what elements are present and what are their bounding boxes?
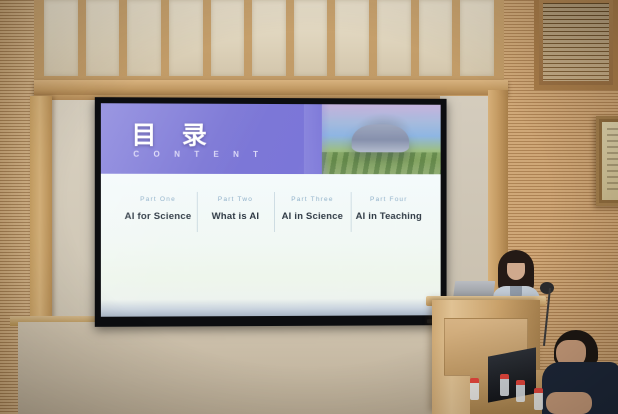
calligraphy-strokes — [607, 128, 618, 194]
transom-panel — [211, 0, 245, 76]
part-title: What is AI — [199, 211, 272, 222]
attendee-arm — [546, 392, 592, 414]
transom-panel — [294, 0, 328, 76]
slide-title-en: C O N T E N T — [133, 150, 264, 159]
slide-header-banner: 目 录 C O N T E N T — [101, 103, 441, 174]
lower-front-wall — [18, 322, 488, 414]
wall-artwork-frame — [596, 116, 618, 206]
content-item-2: Part Two What is AI — [197, 196, 274, 222]
contents-list: Part One AI for Science Part Two What is… — [119, 196, 427, 222]
part-title: AI in Teaching — [353, 211, 425, 222]
transom-panel — [377, 0, 411, 76]
transom-panel — [419, 0, 453, 76]
right-wall-panel — [440, 96, 490, 296]
microphone-icon — [540, 282, 554, 294]
content-item-3: Part Three AI in Science — [274, 196, 351, 222]
window-blind — [543, 3, 609, 81]
wall-artwork-canvas — [602, 122, 618, 200]
water-bottle — [534, 388, 543, 410]
part-label: Part One — [121, 196, 195, 203]
upper-right-window — [534, 0, 618, 90]
foliage-band — [322, 152, 441, 174]
transom-panel — [127, 0, 161, 76]
projected-slide: 目 录 C O N T E N T Part One AI for Scienc… — [101, 103, 441, 317]
banner-photo-fade — [304, 104, 330, 174]
transom-panel — [44, 0, 78, 76]
part-label: Part Two — [199, 196, 272, 203]
slide-title-cn: 目 录 — [131, 115, 216, 151]
transom-lattice — [34, 0, 504, 88]
content-item-1: Part One AI for Science — [119, 196, 197, 222]
transom-panel-group — [40, 0, 498, 76]
part-label: Part Three — [276, 196, 349, 203]
transom-panel — [335, 0, 369, 76]
projection-screen-frame: 目 录 C O N T E N T Part One AI for Scienc… — [95, 97, 447, 327]
content-item-4: Part Four AI in Teaching — [351, 196, 427, 222]
transom-panel — [460, 0, 494, 76]
water-bottle — [500, 374, 509, 396]
attendee-laptop — [488, 347, 536, 402]
transom-panel — [169, 0, 203, 76]
part-title: AI for Science — [121, 211, 195, 222]
slide-body: Part One AI for Science Part Two What is… — [101, 174, 441, 317]
transom-rail — [34, 80, 508, 96]
seated-attendee — [540, 330, 618, 414]
water-bottle — [470, 378, 479, 400]
transom-panel — [252, 0, 286, 76]
transom-panel — [86, 0, 120, 76]
campus-photo-icon — [322, 104, 441, 174]
water-bottle — [516, 380, 525, 402]
lecture-hall-photo: 目 录 C O N T E N T Part One AI for Scienc… — [0, 0, 618, 414]
presenter-fringe — [505, 255, 527, 263]
part-title: AI in Science — [276, 211, 349, 222]
part-label: Part Four — [353, 196, 425, 203]
